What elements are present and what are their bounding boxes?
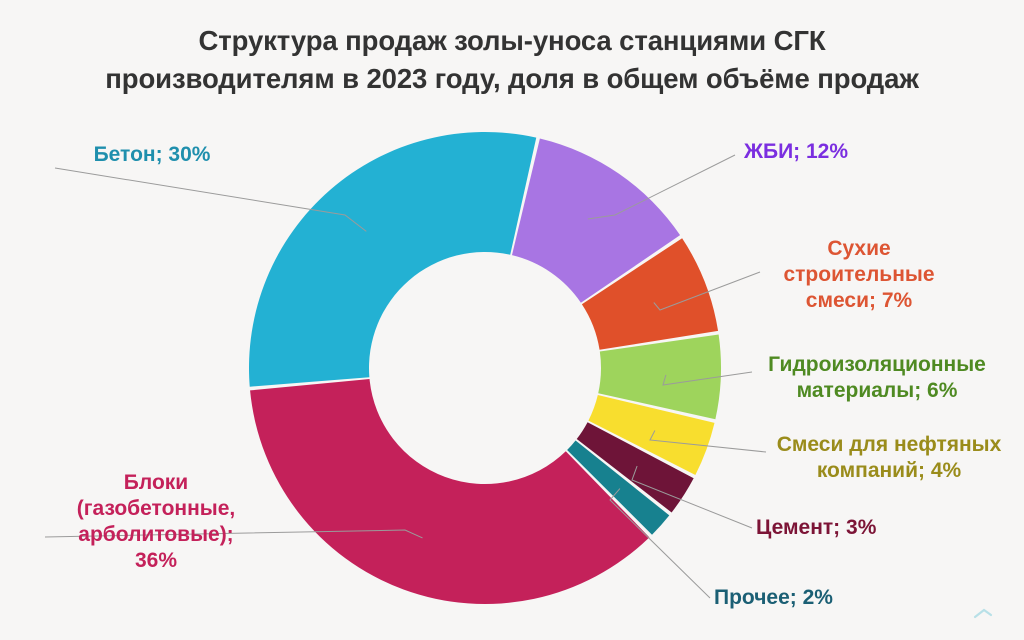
slice-label-prochee: Прочее; 2% bbox=[714, 585, 934, 611]
slice-label-zhbi: ЖБИ; 12% bbox=[744, 139, 1004, 165]
slice-label-smesi: Сухие строительные смеси; 7% bbox=[766, 236, 952, 314]
slice-label-neft: Смеси для нефтяных компаний; 4% bbox=[770, 432, 1008, 484]
donut-slice bbox=[249, 132, 536, 387]
slice-label-beton: Бетон; 30% bbox=[46, 142, 258, 168]
corner-mark-icon bbox=[972, 606, 994, 620]
slice-label-gidro: Гидроизоляционные материалы; 6% bbox=[752, 352, 1002, 404]
chart-canvas: Структура продаж золы-уноса станциями СГ… bbox=[0, 0, 1024, 640]
slice-label-bloki: Блоки (газобетонные, арболитовые); 36% bbox=[20, 470, 292, 574]
donut-slices bbox=[249, 132, 721, 604]
slice-label-cement: Цемент; 3% bbox=[756, 515, 986, 541]
donut-slice bbox=[250, 379, 649, 604]
